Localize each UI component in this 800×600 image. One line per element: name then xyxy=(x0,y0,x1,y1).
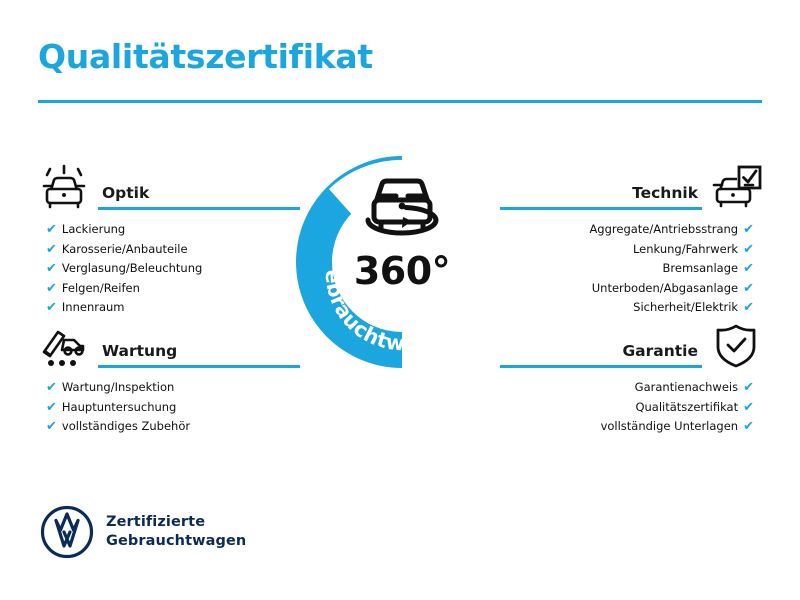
page-title: Qualitätszertifikat xyxy=(38,40,373,73)
list-item: Garantienachweis✔ xyxy=(500,378,762,398)
vw-certified-lockup: Zertifizierte Gebrauchtwagen xyxy=(40,505,246,559)
list-item-label: Verglasung/Beleuchtung xyxy=(62,259,202,279)
list-item-label: Qualitätszertifikat xyxy=(635,398,738,418)
list-item-label: Aggregate/Antriebsstrang xyxy=(589,220,738,240)
check-icon: ✔ xyxy=(743,262,754,275)
list-item-label: Wartung/Inspektion xyxy=(62,378,174,398)
check-icon: ✔ xyxy=(743,420,754,433)
check-icon: ✔ xyxy=(46,401,57,414)
vw-lockup-text: Zertifizierte Gebrauchtwagen xyxy=(106,513,246,551)
list-item: Aggregate/Antriebsstrang✔ xyxy=(500,220,762,240)
list-item: ✔Karosserie/Anbauteile xyxy=(38,240,300,260)
check-icon: ✔ xyxy=(743,282,754,295)
checklist-garantie: Garantienachweis✔ Qualitätszertifikat✔ v… xyxy=(500,378,762,437)
list-item-label: Garantienachweis xyxy=(635,378,738,398)
list-item: ✔Lackierung xyxy=(38,220,300,240)
section-underline xyxy=(500,365,702,368)
list-item: ✔Hauptuntersuchung xyxy=(38,398,300,418)
list-item-label: Sicherheit/Elektrik xyxy=(633,298,738,318)
check-icon: ✔ xyxy=(46,282,57,295)
list-item: Bremsanlage✔ xyxy=(500,259,762,279)
shield-check-icon xyxy=(710,322,762,370)
list-item-label: vollständige Unterlagen xyxy=(601,417,739,437)
sparkling-car-icon xyxy=(38,164,90,212)
check-icon: ✔ xyxy=(46,420,57,433)
section-title: Garantie xyxy=(500,343,702,365)
checklist-wartung: ✔Wartung/Inspektion ✔Hauptuntersuchung ✔… xyxy=(38,378,300,437)
service-record-car-icon xyxy=(38,322,90,370)
section-underline xyxy=(98,365,300,368)
list-item: vollständige Unterlagen✔ xyxy=(500,417,762,437)
list-item: ✔Verglasung/Beleuchtung xyxy=(38,259,300,279)
section-underline xyxy=(98,207,300,210)
list-item: ✔Innenraum xyxy=(38,298,300,318)
section-wartung: Wartung ✔Wartung/Inspektion ✔Hauptunters… xyxy=(38,320,300,437)
check-icon: ✔ xyxy=(743,401,754,414)
list-item-label: Felgen/Reifen xyxy=(62,279,140,299)
check-icon: ✔ xyxy=(46,262,57,275)
list-item: ✔vollständiges Zubehör xyxy=(38,417,300,437)
list-item-label: Unterboden/Abgasanlage xyxy=(592,279,738,299)
list-item-label: Bremsanlage xyxy=(663,259,739,279)
list-item: ✔Felgen/Reifen xyxy=(38,279,300,299)
checklist-optik: ✔Lackierung ✔Karosserie/Anbauteile ✔Verg… xyxy=(38,220,300,318)
check-icon: ✔ xyxy=(46,381,57,394)
check-icon: ✔ xyxy=(46,243,57,256)
badge-center-label: 360° xyxy=(296,252,508,290)
checklist-technik: Aggregate/Antriebsstrang✔ Lenkung/Fahrwe… xyxy=(500,220,762,318)
vw-lockup-line2: Gebrauchtwagen xyxy=(106,532,246,551)
section-title: Wartung xyxy=(98,343,300,365)
check-icon: ✔ xyxy=(743,301,754,314)
vw-lockup-line1: Zertifizierte xyxy=(106,513,246,532)
list-item: Qualitätszertifikat✔ xyxy=(500,398,762,418)
list-item-label: Lackierung xyxy=(62,220,125,240)
header-divider xyxy=(38,100,762,103)
section-optik: Optik ✔Lackierung ✔Karosserie/Anbauteile… xyxy=(38,162,300,318)
check-icon: ✔ xyxy=(743,243,754,256)
list-item: Sicherheit/Elektrik✔ xyxy=(500,298,762,318)
section-technik: Technik Aggregate/Antriebsstrang✔ Lenkun… xyxy=(500,162,762,318)
list-item: Lenkung/Fahrwerk✔ xyxy=(500,240,762,260)
gebrauchtwagen-check-badge: Gebrauchtwagen-Check 360° xyxy=(296,156,508,368)
list-item: ✔Wartung/Inspektion xyxy=(38,378,300,398)
check-icon: ✔ xyxy=(46,301,57,314)
check-icon: ✔ xyxy=(743,223,754,236)
list-item-label: Hauptuntersuchung xyxy=(62,398,176,418)
list-item-label: Lenkung/Fahrwerk xyxy=(633,240,738,260)
vw-roundel-logo xyxy=(40,505,94,559)
check-icon: ✔ xyxy=(743,381,754,394)
section-garantie: Garantie Garantienachweis✔ Qualitätszert… xyxy=(500,320,762,437)
check-icon: ✔ xyxy=(46,223,57,236)
section-title: Optik xyxy=(98,185,300,207)
list-item: Unterboden/Abgasanlage✔ xyxy=(500,279,762,299)
section-underline xyxy=(500,207,702,210)
list-item-label: Karosserie/Anbauteile xyxy=(62,240,188,260)
car-checkbox-icon xyxy=(710,164,762,212)
list-item-label: vollständiges Zubehör xyxy=(62,417,190,437)
list-item-label: Innenraum xyxy=(62,298,125,318)
section-title: Technik xyxy=(500,185,702,207)
